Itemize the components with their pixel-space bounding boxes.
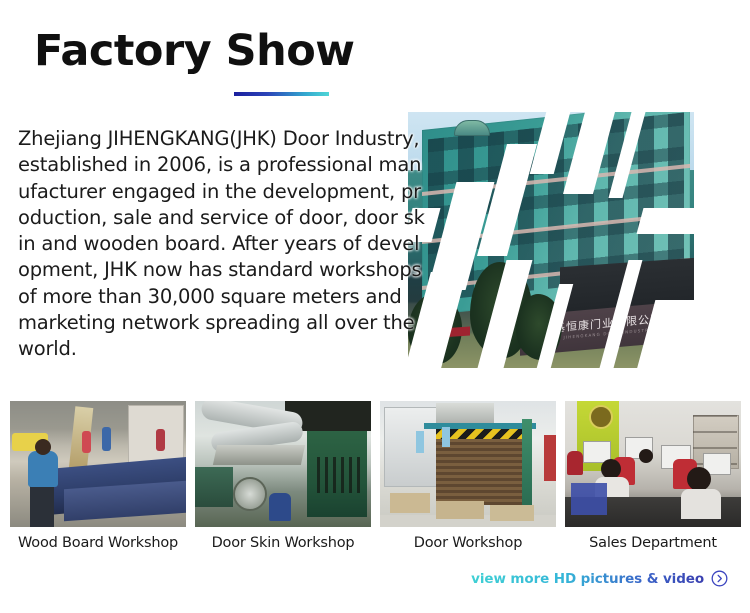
thumb-detail bbox=[35, 439, 51, 455]
thumb-detail bbox=[436, 439, 524, 505]
thumb-wood-board-workshop[interactable]: Wood Board Workshop bbox=[10, 401, 186, 552]
hero-factory-image: 浙江基恒康门业有限公司 ZHEJIANG JIHENGKANG DOOR IND… bbox=[408, 112, 694, 368]
thumb-detail bbox=[681, 489, 721, 519]
thumb-detail bbox=[269, 493, 291, 521]
thumb-sales-department[interactable]: Sales Department bbox=[565, 401, 741, 552]
thumb-detail bbox=[213, 445, 305, 465]
thumb-detail bbox=[601, 459, 621, 479]
thumb-detail bbox=[195, 467, 233, 507]
thumb-detail bbox=[156, 429, 165, 451]
thumb-detail bbox=[639, 449, 653, 463]
thumb-detail bbox=[571, 483, 607, 515]
thumb-image-sales-department[interactable] bbox=[565, 401, 741, 527]
thumb-caption: Sales Department bbox=[565, 534, 741, 552]
thumb-detail bbox=[233, 477, 267, 511]
thumb-caption: Door Workshop bbox=[380, 534, 556, 552]
thumb-detail bbox=[687, 467, 711, 491]
chevron-right-circle-icon[interactable] bbox=[711, 570, 728, 587]
thumb-detail bbox=[390, 493, 430, 513]
thumbnail-gallery: Wood Board Workshop Door Skin Workshop bbox=[10, 401, 740, 552]
thumb-image-door-workshop[interactable] bbox=[380, 401, 556, 527]
thumb-detail bbox=[416, 431, 424, 453]
thumb-door-skin-workshop[interactable]: Door Skin Workshop bbox=[195, 401, 371, 552]
thumb-image-door-skin-workshop[interactable] bbox=[195, 401, 371, 527]
thumb-detail bbox=[102, 427, 111, 451]
thumb-detail bbox=[589, 405, 613, 429]
thumb-door-workshop[interactable]: Door Workshop bbox=[380, 401, 556, 552]
thumb-detail bbox=[317, 457, 363, 493]
thumb-detail bbox=[567, 451, 583, 475]
view-more-hd-pictures-label: view more HD pictures & video bbox=[471, 571, 704, 587]
hero-roof-dome bbox=[454, 120, 490, 136]
thumb-detail bbox=[384, 407, 438, 487]
thumb-detail bbox=[544, 435, 556, 481]
thumb-detail bbox=[436, 403, 494, 423]
thumb-caption: Wood Board Workshop bbox=[10, 534, 186, 552]
thumb-detail bbox=[82, 431, 91, 453]
thumb-detail bbox=[490, 505, 534, 521]
thumb-detail bbox=[442, 427, 450, 447]
company-description: Zhejiang JIHENGKANG(JHK) Door Industry, … bbox=[18, 126, 426, 363]
thumb-detail bbox=[522, 419, 532, 511]
thumb-detail bbox=[436, 501, 484, 519]
thumb-detail bbox=[30, 485, 54, 527]
page-title: Factory Show bbox=[34, 30, 355, 73]
view-more-hd-pictures-link[interactable]: view more HD pictures & video bbox=[471, 570, 728, 587]
title-underline-accent bbox=[234, 92, 329, 96]
thumb-image-wood-board-workshop[interactable] bbox=[10, 401, 186, 527]
hero-tree bbox=[516, 294, 562, 360]
thumb-detail bbox=[28, 451, 58, 487]
thumb-caption: Door Skin Workshop bbox=[195, 534, 371, 552]
